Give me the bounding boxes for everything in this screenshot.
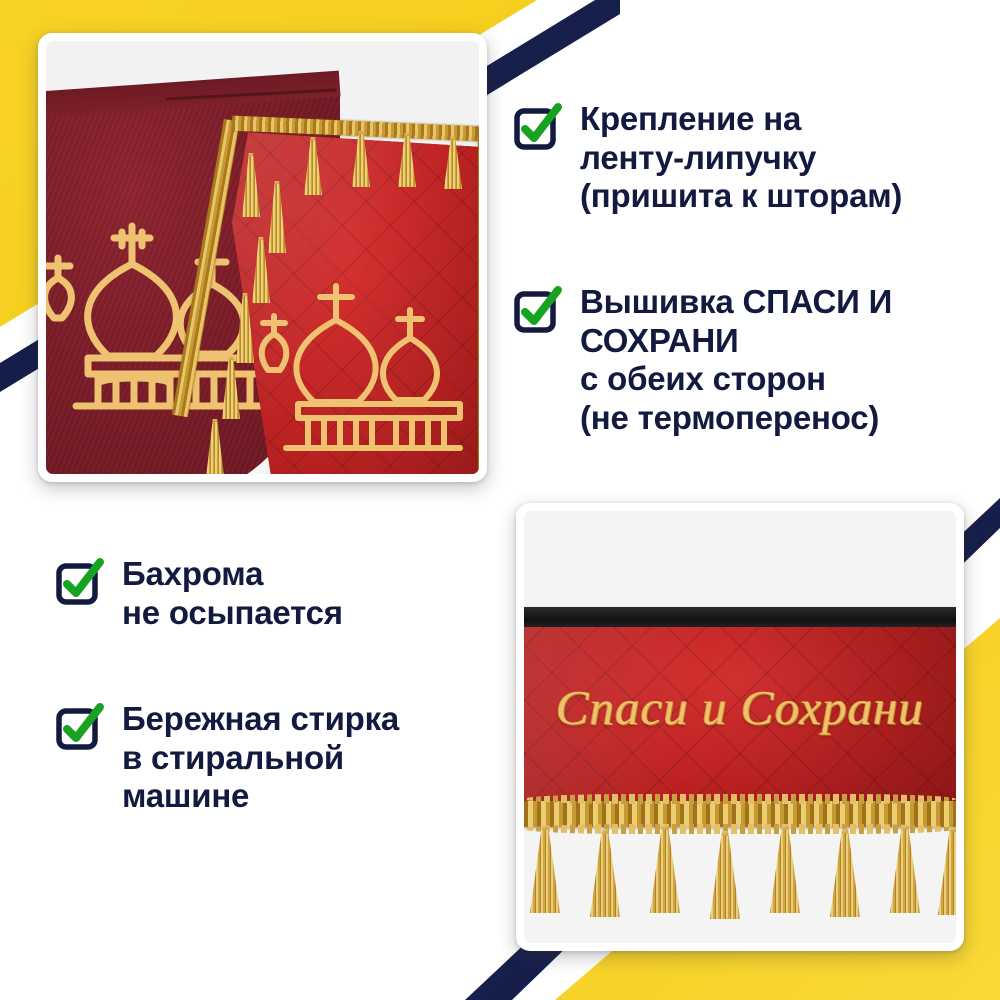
dome-motif-red (256, 266, 479, 456)
feature-label: Бахрома не осыпается (122, 555, 343, 632)
feature-item-fringe-durable: Бахрома не осыпается (56, 555, 343, 632)
velcro-strip (524, 607, 956, 629)
feature-label: Бережная стирка в стиральной машине (122, 700, 399, 816)
tassel-row (524, 825, 956, 929)
checkbox-checked-icon (514, 104, 560, 150)
tassel (938, 827, 956, 915)
feature-item-embroidery-both-sides: Вышивка СПАСИ И СОХРАНИ с обеих сторон (… (514, 283, 892, 437)
feature-item-velcro-mount: Крепление на ленту-липучку (пришита к шт… (514, 100, 902, 216)
checkbox-checked-icon (514, 287, 560, 333)
gold-braid-trim (524, 801, 956, 827)
photo-embroidery: Спаси и Сохрани (516, 503, 964, 951)
tassel (530, 825, 560, 913)
tassel (830, 829, 860, 917)
infographic-canvas: Спаси и Сохрани Крепление на ленту-липуч… (0, 0, 1000, 1000)
photo-church-domes-inner (46, 41, 479, 474)
tassel (590, 829, 620, 917)
checkbox-checked-icon (56, 559, 102, 605)
tassel (890, 825, 920, 913)
embroidery-text: Спаси и Сохрани (524, 679, 956, 736)
gold-braid-right (478, 127, 479, 474)
photo-embroidery-inner: Спаси и Сохрани (524, 511, 956, 943)
checkbox-checked-icon (56, 704, 102, 750)
feature-label: Вышивка СПАСИ И СОХРАНИ с обеих сторон (… (580, 283, 892, 437)
tassel (770, 825, 800, 913)
tassel (710, 831, 740, 919)
tassel (650, 825, 680, 913)
photo-church-domes (38, 33, 487, 482)
feature-item-machine-wash: Бережная стирка в стиральной машине (56, 700, 399, 816)
feature-label: Крепление на ленту-липучку (пришита к шт… (580, 100, 902, 216)
